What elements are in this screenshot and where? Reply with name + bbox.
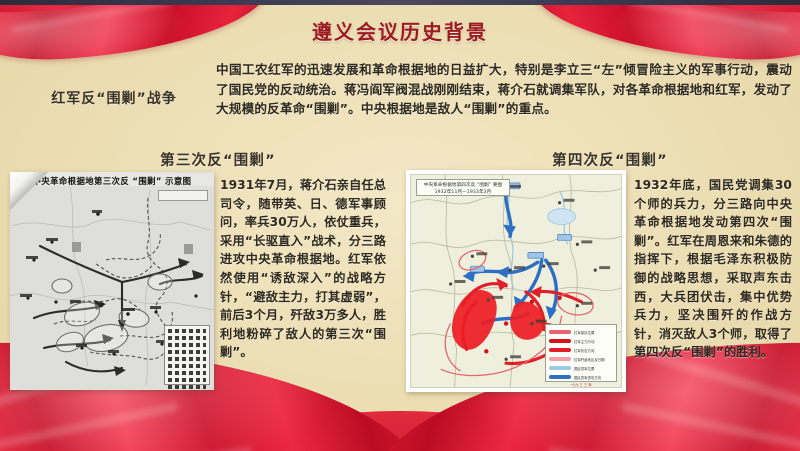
legend-label: 红军伏击方向 [574, 348, 594, 353]
legend-footer: 一 九 三 三 年 [549, 382, 613, 387]
intro-heading: 红军反“围剿”战争 [18, 88, 210, 108]
legend-row: 红军主力行动 [549, 337, 613, 345]
body-text-third: 1931年7月，蒋介石亲自任总司令，随带英、日、德军事顾问，率兵30万人，依仗重… [220, 176, 386, 362]
legend-label: 国民党军位置 [574, 366, 594, 371]
legend-label: 红军主力行动 [574, 339, 594, 344]
legend-swatch [549, 366, 571, 370]
map-legend-third [164, 325, 210, 385]
slide-canvas: 遵义会议历史背景 红军反“围剿”战争 中国工农红军的迅速发展和革命根据地的日益扩… [0, 0, 800, 451]
legend-label: 红军部队位置 [574, 330, 594, 335]
color-map: 中央革命根据地第四次反 “围剿” 要图 1932年11月—1933年3月 红军部… [410, 174, 622, 388]
legend-label: 国民党军进攻方向 [574, 375, 601, 380]
page-title: 遵义会议历史背景 [0, 16, 800, 45]
top-dark-band [0, 0, 800, 5]
section-heading-third: 第三次反“围剿” [108, 149, 328, 170]
map-date-box-third [158, 190, 208, 201]
grayscale-map: 中央革命根据地第三次反 “围剿” 示意图 [10, 172, 214, 390]
map-third-campaign[interactable]: 中央革命根据地第三次反 “围剿” 示意图 [10, 172, 214, 390]
legend-swatch [549, 348, 571, 352]
map-title-fourth-main: 中央革命根据地第四次反 “围剿” 要图 [417, 182, 509, 189]
legend-row: 红军歼敌地区及日期 [549, 355, 613, 363]
map-legend-fourth: 红军部队位置 红军主力行动 红军伏击方向 红军歼敌地区及日期 国民党军位置 [545, 324, 617, 382]
map-fourth-campaign[interactable]: 中央革命根据地第四次反 “围剿” 要图 1932年11月—1933年3月 红军部… [406, 170, 626, 392]
legend-swatch [549, 339, 571, 343]
legend-row: 红军伏击方向 [549, 346, 613, 354]
legend-swatch [549, 375, 571, 379]
section-heading-fourth: 第四次反“围剿” [500, 149, 720, 170]
map-title-fourth-date: 1932年11月—1933年3月 [417, 189, 509, 196]
map-title-fourth: 中央革命根据地第四次反 “围剿” 要图 1932年11月—1933年3月 [416, 179, 510, 196]
legend-row: 国民党军进攻方向 [549, 373, 613, 381]
legend-row: 红军部队位置 [549, 328, 613, 336]
bottom-silk-center [150, 411, 650, 451]
legend-label: 红军歼敌地区及日期 [574, 357, 605, 362]
body-text-fourth: 1932年底，国民党调集30个师的兵力，分三路向中央革命根据地发动第四次“围剿”… [634, 176, 792, 362]
legend-swatch [549, 357, 571, 361]
legend-row: 国民党军位置 [549, 364, 613, 372]
intro-paragraph: 中国工农红军的迅速发展和革命根据地的日益扩大，特别是李立三“左”倾冒险主义的军事… [216, 60, 792, 119]
legend-swatch [549, 330, 571, 334]
